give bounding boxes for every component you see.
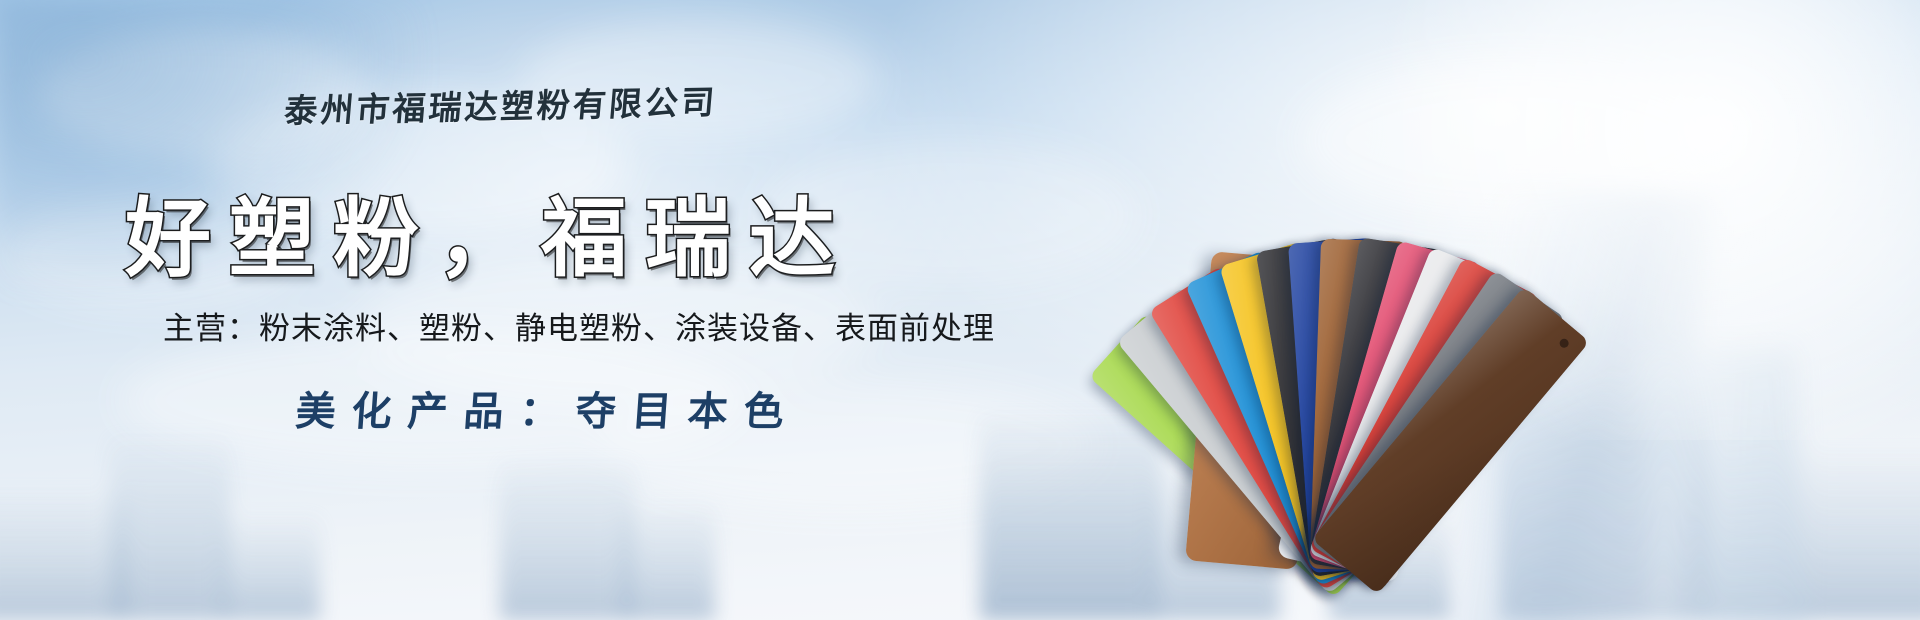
color-sample-fan: 福瑞达 福瑞达 [1010, 0, 1630, 470]
banner-tagline: 美化产品：夺目本色 [294, 379, 802, 437]
promotional-banner: 泰州市福瑞达塑粉有限公司 好塑粉，福瑞达 主营：粉末涂料、塑粉、静电塑粉、涂装设… [0, 0, 1920, 620]
banner-subtitle-services: 主营：粉末涂料、塑粉、静电塑粉、涂装设备、表面前处理 [163, 303, 995, 348]
glass-tower-silhouette [1644, 347, 1805, 620]
card-hole-icon [1558, 337, 1571, 350]
banner-text-block: 泰州市福瑞达塑粉有限公司 好塑粉，福瑞达 主营：粉末涂料、塑粉、静电塑粉、涂装设… [0, 0, 1000, 620]
company-name: 泰州市福瑞达塑粉有限公司 [283, 75, 720, 132]
banner-headline: 好塑粉，福瑞达 [125, 168, 853, 293]
